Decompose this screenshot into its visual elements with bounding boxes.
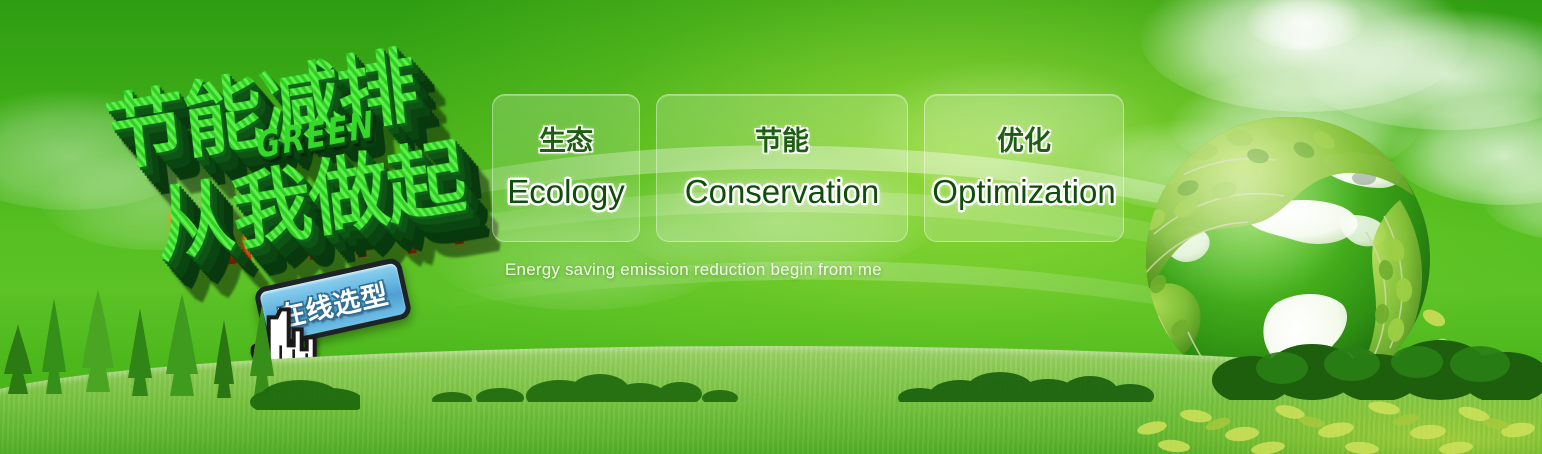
- headline-3d-art: 节能减排 GREEN 从我做起: [84, 16, 508, 295]
- feature-card-cn-label: 生态: [539, 128, 593, 155]
- feature-card-en-label: Ecology: [507, 175, 624, 208]
- tagline-text: Energy saving emission reduction begin f…: [505, 260, 882, 280]
- feature-card-optimization[interactable]: 优化 Optimization: [924, 94, 1124, 242]
- eco-banner: 节能减排 GREEN 从我做起 生态 Ecology 节能 Conservati…: [0, 0, 1542, 454]
- feature-card-en-label: Optimization: [932, 175, 1115, 208]
- feature-card-conservation[interactable]: 节能 Conservation: [656, 94, 908, 242]
- feature-card-en-label: Conservation: [685, 175, 879, 208]
- feature-card-group: 生态 Ecology 节能 Conservation 优化 Optimizati…: [492, 94, 1124, 242]
- pine-tree-row: [0, 290, 360, 410]
- right-bush-cluster: [1212, 320, 1542, 400]
- feature-card-cn-label: 优化: [997, 128, 1051, 155]
- feature-card-ecology[interactable]: 生态 Ecology: [492, 94, 640, 242]
- feature-card-cn-label: 节能: [755, 128, 809, 155]
